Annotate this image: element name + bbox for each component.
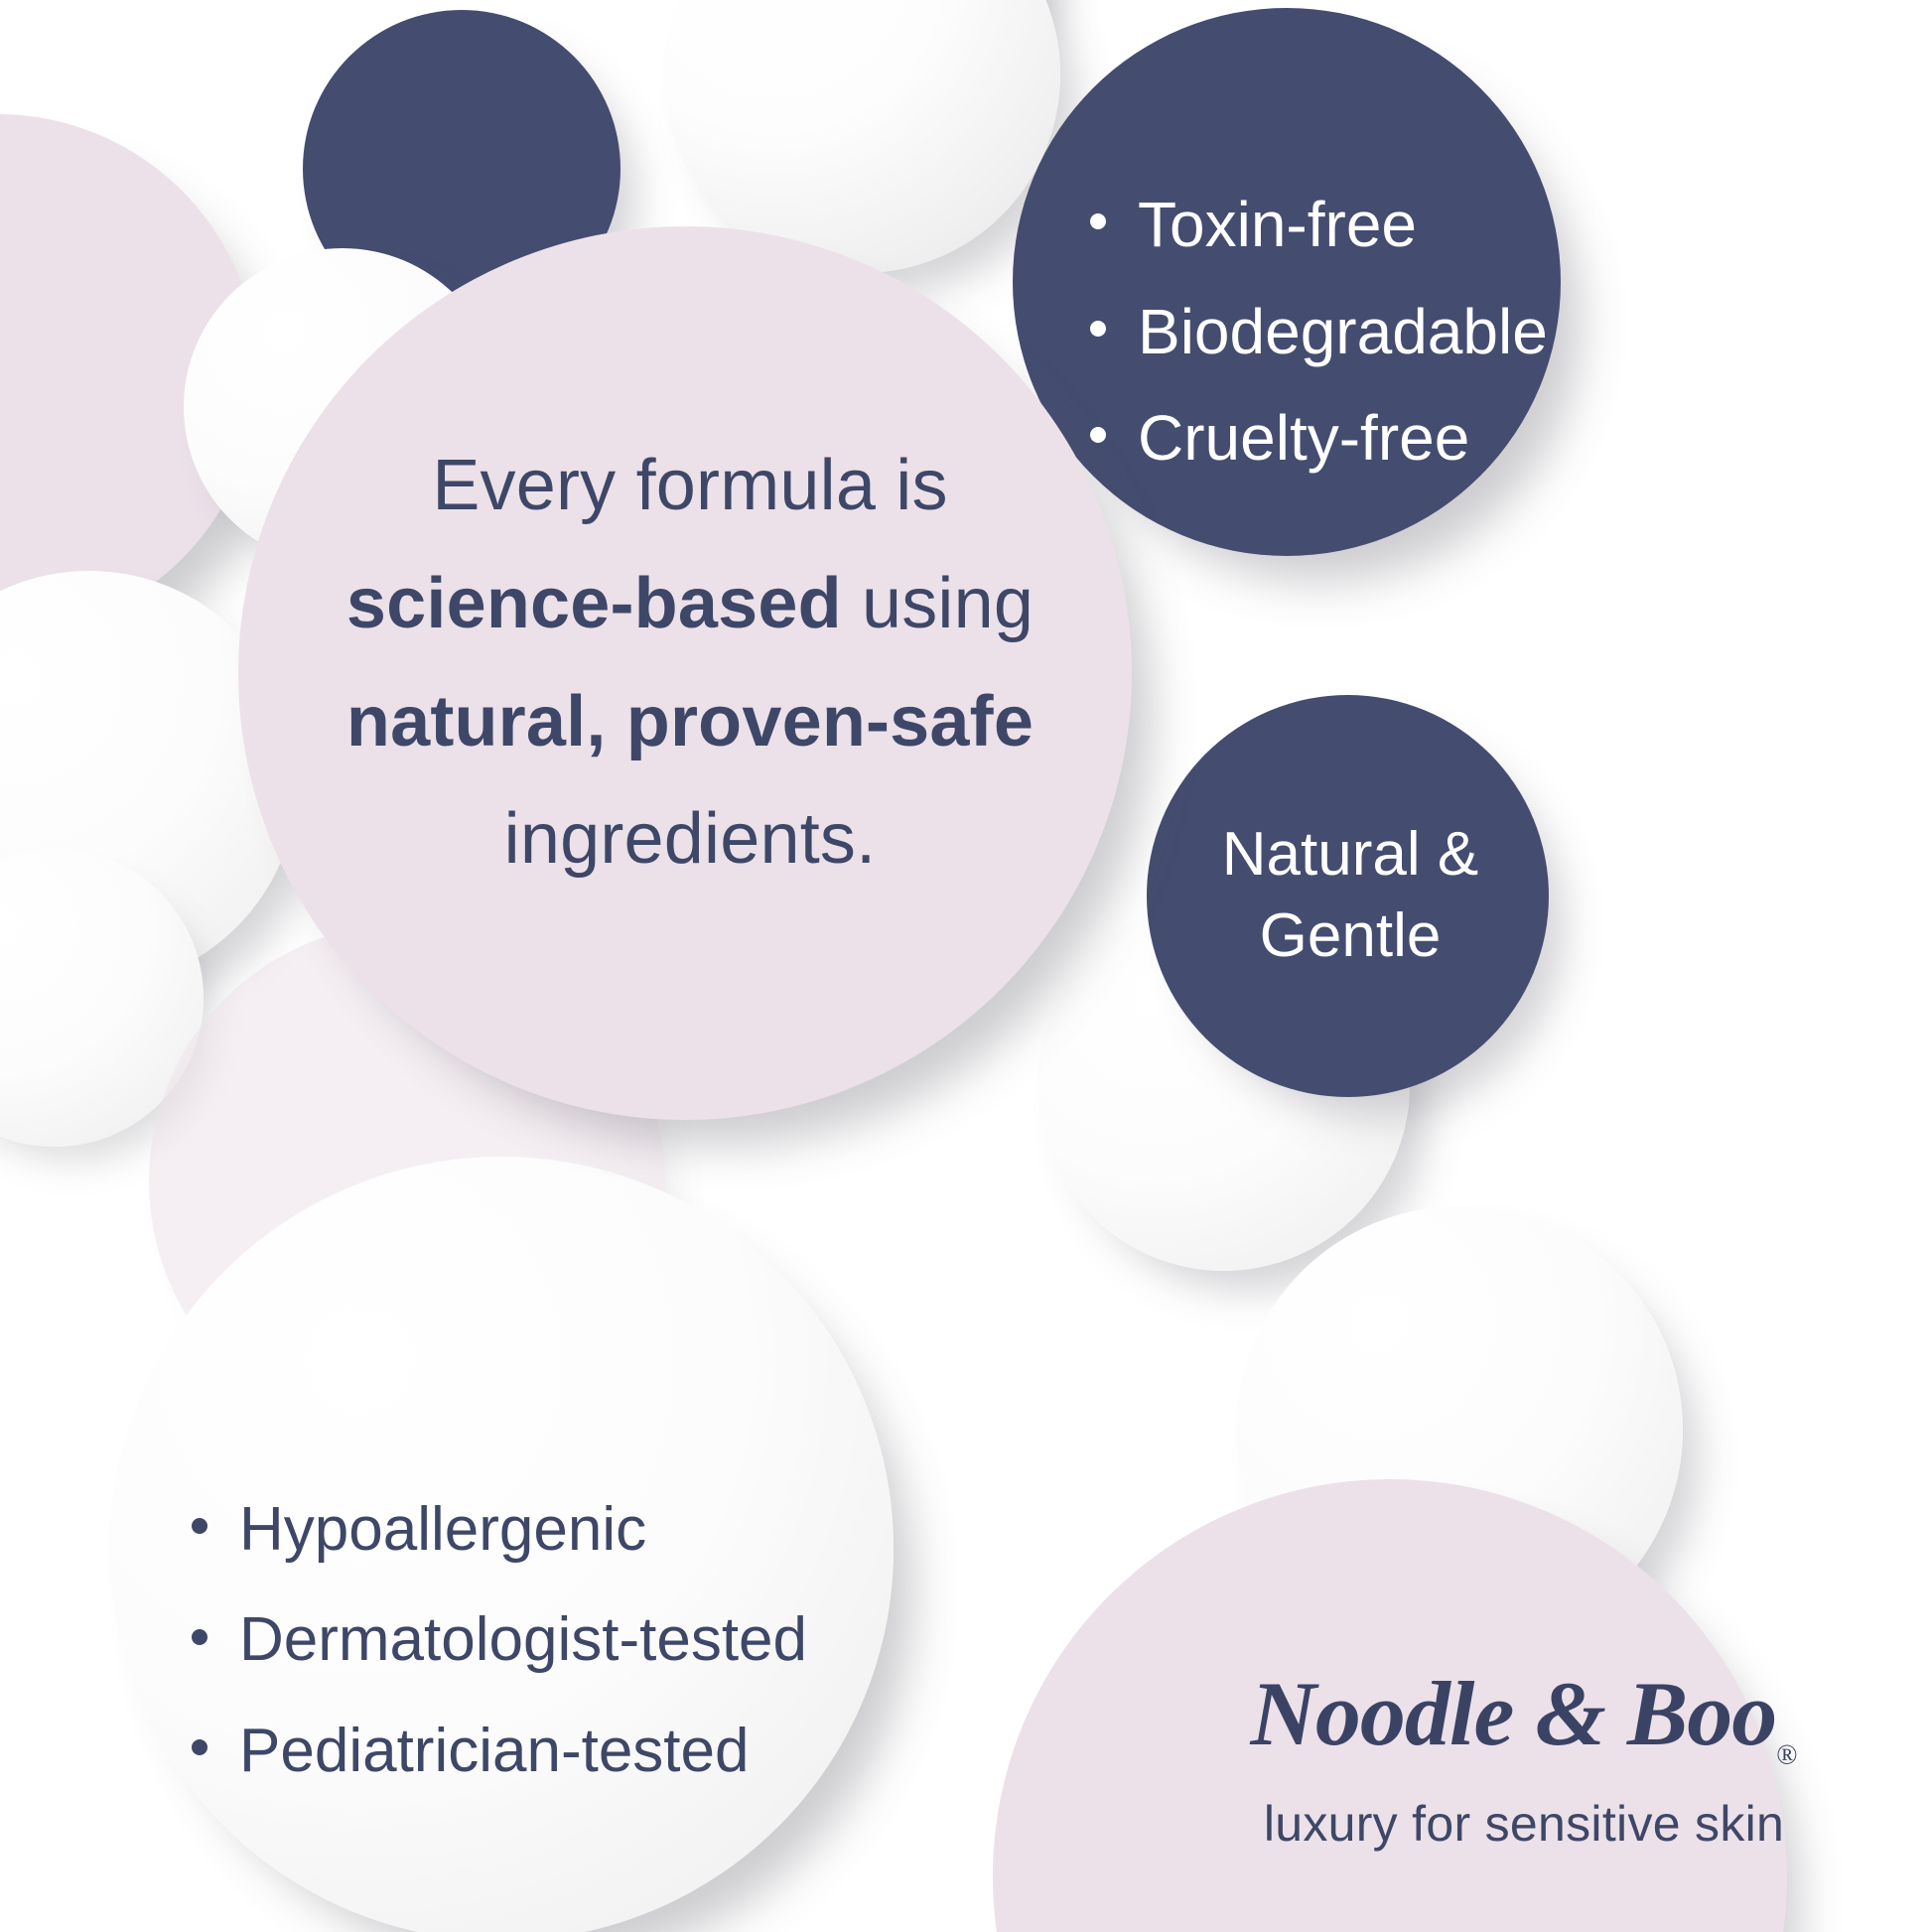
bullet-dot-icon xyxy=(192,1739,207,1755)
natural-gentle-line-2: Gentle xyxy=(1157,896,1544,977)
brand-logo: Noodle & Boo® luxury for sensitive skin xyxy=(1236,1668,1812,1853)
list-item: Cruelty-free xyxy=(1082,402,1598,476)
lower-bullet-label: Dermatologist-tested xyxy=(239,1605,807,1674)
list-item: Dermatologist-tested xyxy=(184,1604,898,1675)
navy-bullet-label: Biodegradable xyxy=(1138,296,1548,367)
bullet-dot-icon xyxy=(192,1518,207,1534)
brand-wordmark-text: Noodle & Boo xyxy=(1250,1663,1776,1764)
hero-line-2: science-based using xyxy=(298,545,1082,663)
testing-claims-list: Hypoallergenic Dermatologist-tested Pedi… xyxy=(184,1494,898,1826)
brand-tagline: luxury for sensitive skin xyxy=(1236,1795,1812,1853)
hero-line-2-tail: using xyxy=(842,564,1034,643)
registered-trademark-icon: ® xyxy=(1776,1739,1797,1770)
navy-bullet-label: Toxin-free xyxy=(1138,189,1417,260)
lower-bullet-label: Pediatrician-tested xyxy=(239,1717,750,1785)
hero-line-3: natural, proven-safe xyxy=(298,663,1082,781)
hero-line-4: ingredients. xyxy=(298,780,1082,898)
bullet-dot-icon xyxy=(192,1629,207,1645)
lower-bullet-label: Hypoallergenic xyxy=(239,1495,646,1564)
bullet-dot-icon xyxy=(1090,427,1106,443)
navy-benefit-list: Toxin-free Biodegradable Cruelty-free xyxy=(1082,189,1598,476)
natural-gentle-label: Natural & Gentle xyxy=(1157,814,1544,977)
hero-emphasis-science-based: science-based xyxy=(346,564,842,643)
hero-emphasis-natural-proven-safe: natural, proven-safe xyxy=(346,682,1034,761)
bullet-dot-icon xyxy=(1090,321,1106,337)
hero-line-1: Every formula is xyxy=(298,427,1082,545)
list-item: Biodegradable xyxy=(1082,296,1598,369)
list-item: Toxin-free xyxy=(1082,189,1598,262)
natural-gentle-line-1: Natural & xyxy=(1157,814,1544,896)
bullet-dot-icon xyxy=(1090,213,1106,229)
hero-statement: Every formula is science-based using nat… xyxy=(298,427,1082,898)
list-item: Pediatrician-tested xyxy=(184,1716,898,1786)
navy-bullet-label: Cruelty-free xyxy=(1138,402,1469,474)
brand-wordmark: Noodle & Boo® xyxy=(1236,1668,1812,1769)
poster-canvas: Every formula is science-based using nat… xyxy=(0,0,1932,1932)
list-item: Hypoallergenic xyxy=(184,1494,898,1565)
